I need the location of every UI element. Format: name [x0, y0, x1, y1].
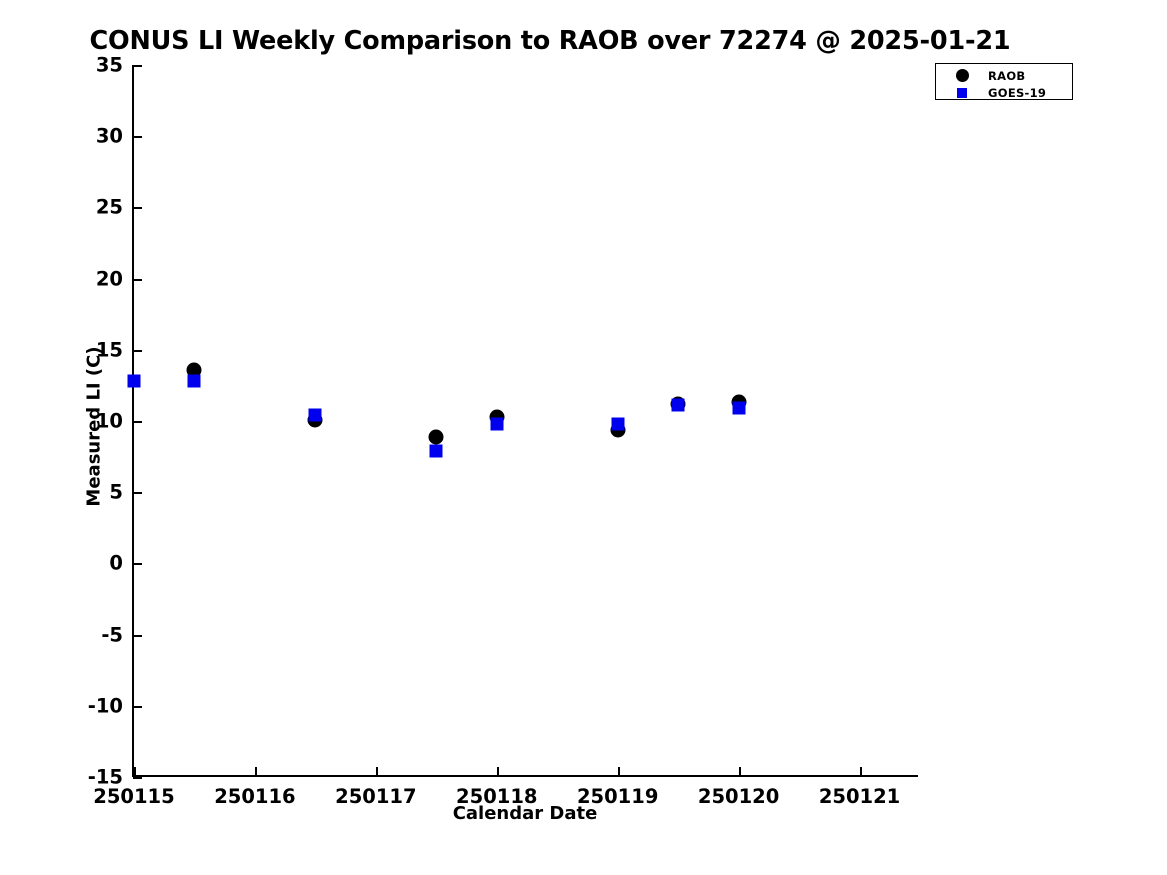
chart-title: CONUS LI Weekly Comparison to RAOB over … — [0, 26, 1100, 56]
y-tick — [133, 65, 142, 67]
chart-legend: RAOBGOES-19 — [935, 63, 1073, 100]
data-point-goes-19 — [490, 417, 503, 430]
x-axis-label: Calendar Date — [132, 803, 918, 824]
y-tick — [133, 136, 142, 138]
y-tick — [133, 777, 142, 779]
legend-label: RAOB — [988, 69, 1026, 83]
data-point-goes-19 — [672, 399, 685, 412]
circle-marker-icon — [956, 69, 969, 82]
y-tick-label: -5 — [101, 623, 123, 646]
data-point-goes-19 — [611, 417, 624, 430]
y-tick-label: 0 — [109, 552, 123, 575]
data-point-goes-19 — [309, 409, 322, 422]
y-tick-label: 25 — [96, 196, 123, 219]
y-tick — [133, 635, 142, 637]
y-tick — [133, 350, 142, 352]
y-axis-label: Measured LI (C) — [84, 317, 105, 537]
legend-marker-icon — [936, 69, 988, 82]
x-tick — [497, 767, 499, 776]
chart-figure: CONUS LI Weekly Comparison to RAOB over … — [0, 0, 1167, 875]
data-point-goes-19 — [732, 402, 745, 415]
x-tick — [618, 767, 620, 776]
y-tick-label: -10 — [88, 694, 123, 717]
legend-item-goes-19[interactable]: GOES-19 — [936, 84, 1072, 101]
x-tick — [376, 767, 378, 776]
legend-item-raob[interactable]: RAOB — [936, 67, 1072, 84]
y-tick — [133, 421, 142, 423]
x-tick — [134, 767, 136, 776]
square-marker-icon — [957, 88, 967, 98]
y-tick-label: 5 — [109, 481, 123, 504]
x-tick — [739, 767, 741, 776]
y-tick-label: 20 — [96, 267, 123, 290]
y-tick-label: 35 — [96, 54, 123, 77]
x-tick — [255, 767, 257, 776]
legend-marker-icon — [936, 88, 988, 98]
y-tick — [133, 492, 142, 494]
legend-label: GOES-19 — [988, 86, 1046, 100]
data-point-goes-19 — [128, 375, 141, 388]
data-point-goes-19 — [188, 375, 201, 388]
y-tick-label: 30 — [96, 125, 123, 148]
data-point-goes-19 — [430, 444, 443, 457]
data-point-raob — [429, 429, 444, 444]
y-tick — [133, 706, 142, 708]
y-tick — [133, 207, 142, 209]
x-tick — [860, 767, 862, 776]
y-tick — [133, 563, 142, 565]
y-tick — [133, 279, 142, 281]
plot-area: 35302520151050-5-10-15 25011525011625011… — [132, 65, 918, 777]
